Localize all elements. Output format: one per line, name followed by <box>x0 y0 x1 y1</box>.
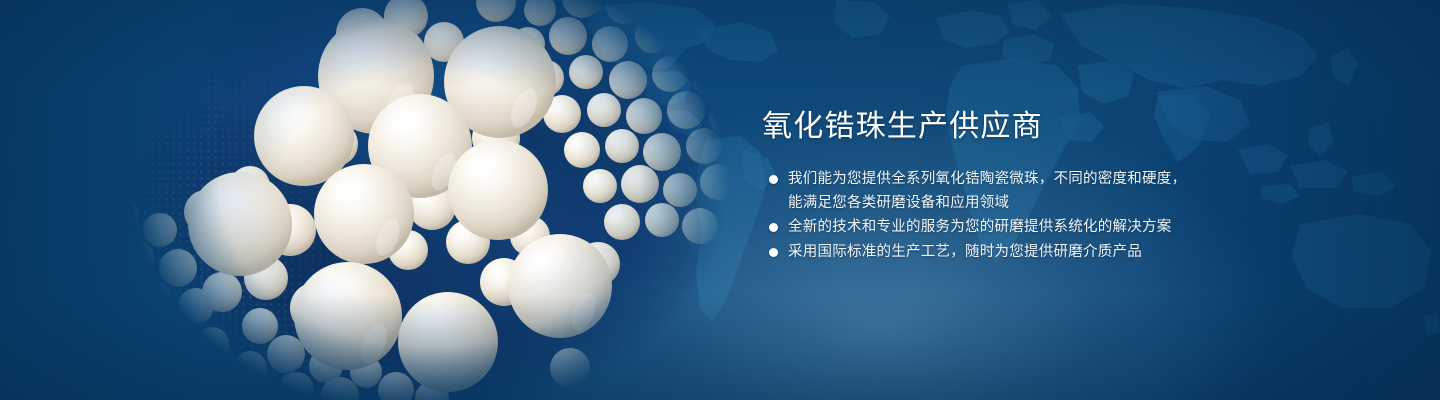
page-title: 氧化锆珠生产供应商 <box>762 108 1232 146</box>
list-item: 采用国际标准的生产工艺，随时为您提供研磨介质产品 <box>762 241 1232 265</box>
banner-content: 氧化锆珠生产供应商 我们能为您提供全系列氧化锆陶瓷微珠，不同的密度和硬度， 能满… <box>762 108 1232 264</box>
list-item: 全新的技术和专业的服务为您的研磨提供系统化的解决方案 <box>762 216 1232 240</box>
list-item-line-1: 我们能为您提供全系列氧化锆陶瓷微珠，不同的密度和硬度， <box>788 171 1186 187</box>
zirconia-beads-photo <box>100 0 740 400</box>
bullet-dot-icon <box>769 248 778 257</box>
feature-list: 我们能为您提供全系列氧化锆陶瓷微珠，不同的密度和硬度， 能满足您各类研磨设备和应… <box>762 168 1232 264</box>
list-item-line-2: 能满足您各类研磨设备和应用领域 <box>788 192 1232 216</box>
bullet-dot-icon <box>769 175 778 184</box>
bullet-dot-icon <box>769 223 778 232</box>
list-item-line-1: 采用国际标准的生产工艺，随时为您提供研磨介质产品 <box>788 244 1142 260</box>
list-item: 我们能为您提供全系列氧化锆陶瓷微珠，不同的密度和硬度， 能满足您各类研磨设备和应… <box>762 168 1232 215</box>
list-item-line-1: 全新的技术和专业的服务为您的研磨提供系统化的解决方案 <box>788 219 1172 235</box>
promo-banner: 氧化锆珠生产供应商 我们能为您提供全系列氧化锆陶瓷微珠，不同的密度和硬度， 能满… <box>0 0 1440 400</box>
